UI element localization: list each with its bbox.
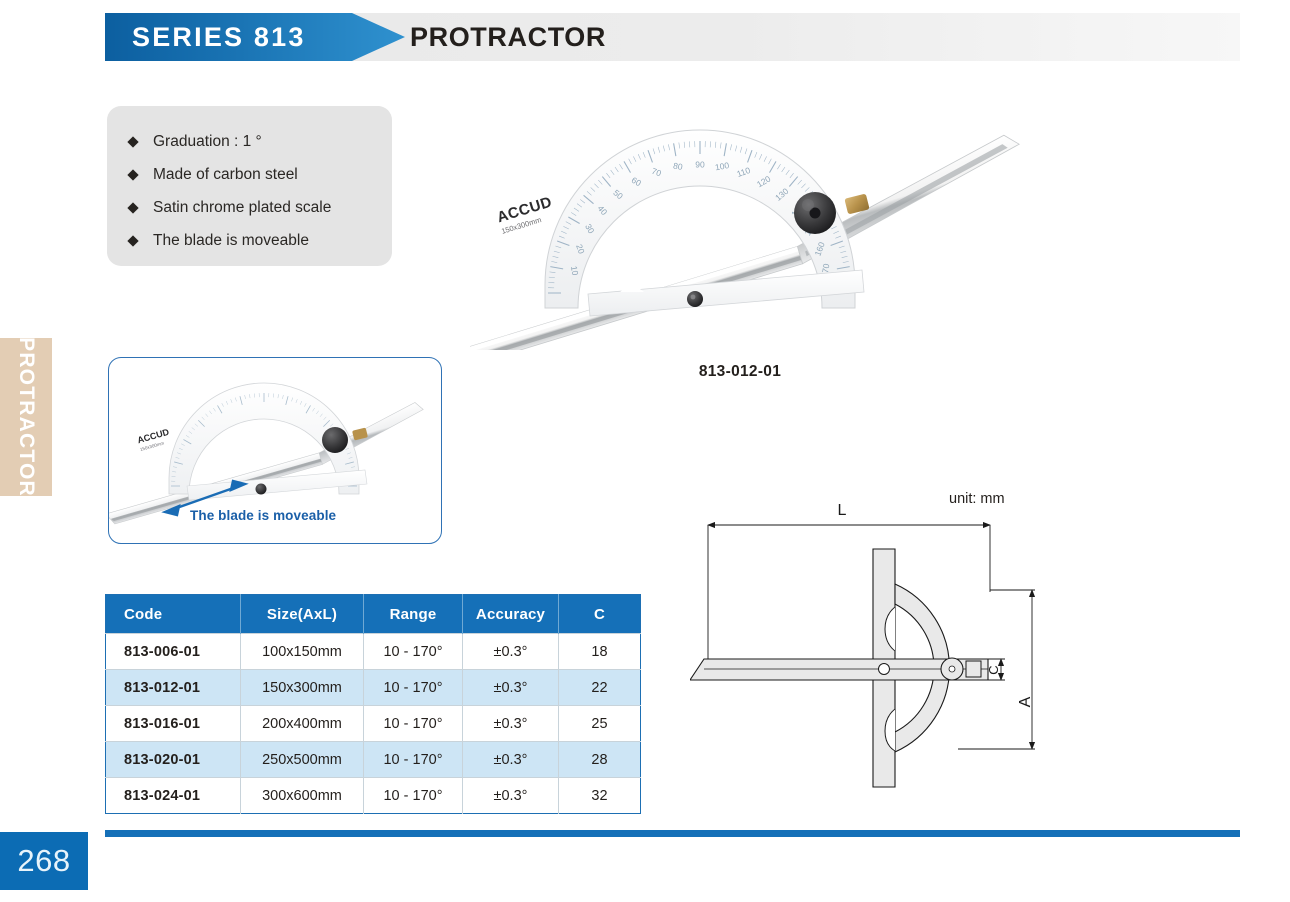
cell-range: 10 - 170° (364, 670, 463, 706)
cell-c: 18 (559, 634, 641, 670)
drawing-clamp (966, 661, 981, 677)
page-number: 268 (0, 832, 88, 890)
cell-accuracy: ±0.3° (463, 742, 559, 778)
table-header-code[interactable]: Code (106, 595, 241, 634)
cell-code: 813-016-01 (106, 706, 241, 742)
main-photo-caption: 813-012-01 (640, 363, 840, 381)
footer-rule (105, 830, 1240, 837)
inset-locking-knob (322, 427, 348, 453)
protractor-illustration: 1020304050607080901001101201301401501601… (470, 80, 1070, 350)
feature-item: Graduation : 1 ° (129, 125, 331, 158)
drawing-hole (879, 664, 890, 675)
table-header-row: Code Size(AxL) Range Accuracy C (106, 595, 641, 634)
cell-code: 813-024-01 (106, 778, 241, 814)
cell-size: 100x150mm (241, 634, 364, 670)
inset-center-pivot (256, 484, 267, 495)
dim-label-L: L (838, 502, 847, 519)
feature-text: Made of carbon steel (153, 166, 298, 183)
page-header: SERIES 813 PROTRACTOR (105, 13, 1240, 61)
side-tab-label: PROTRACTOR (14, 337, 38, 497)
scale-number: 90 (695, 159, 705, 169)
cell-range: 10 - 170° (364, 634, 463, 670)
dim-label-C: C (986, 665, 1001, 674)
feature-item: Made of carbon steel (129, 158, 331, 191)
diamond-bullet-icon (127, 169, 138, 180)
table-header-size[interactable]: Size(AxL) (241, 595, 364, 634)
cell-accuracy: ±0.3° (463, 634, 559, 670)
cell-accuracy: ±0.3° (463, 670, 559, 706)
cell-code: 813-006-01 (106, 634, 241, 670)
cell-accuracy: ±0.3° (463, 706, 559, 742)
inset-caption: The blade is moveable (190, 508, 450, 523)
table-row[interactable]: 813-024-01 300x600mm 10 - 170° ±0.3° 32 (106, 778, 641, 814)
specification-table: Code Size(AxL) Range Accuracy C 813-006-… (105, 594, 641, 814)
dimension-drawing: L A C (690, 487, 1055, 792)
diamond-bullet-icon (127, 136, 138, 147)
cell-c: 32 (559, 778, 641, 814)
cell-code: 813-012-01 (106, 670, 241, 706)
diamond-bullet-icon (127, 202, 138, 213)
table-row[interactable]: 813-020-01 250x500mm 10 - 170° ±0.3° 28 (106, 742, 641, 778)
feature-item: The blade is moveable (129, 224, 331, 257)
feature-item: Satin chrome plated scale (129, 191, 331, 224)
center-pivot (687, 291, 703, 307)
main-product-photo: 1020304050607080901001101201301401501601… (470, 80, 1070, 350)
feature-box: Graduation : 1 ° Made of carbon steel Sa… (107, 106, 392, 266)
table-row[interactable]: 813-012-01 150x300mm 10 - 170° ±0.3° 22 (106, 670, 641, 706)
scale-number: 80 (672, 160, 683, 172)
table-row[interactable]: 813-006-01 100x150mm 10 - 170° ±0.3° 18 (106, 634, 641, 670)
cell-accuracy: ±0.3° (463, 778, 559, 814)
table-row[interactable]: 813-016-01 200x400mm 10 - 170° ±0.3° 25 (106, 706, 641, 742)
table-header-c[interactable]: C (559, 595, 641, 634)
side-category-tab: PROTRACTOR (0, 338, 52, 496)
cell-range: 10 - 170° (364, 778, 463, 814)
table-header-range[interactable]: Range (364, 595, 463, 634)
brand-label: ACCUD 150x300mm (495, 193, 557, 235)
feature-list: Graduation : 1 ° Made of carbon steel Sa… (129, 125, 331, 257)
feature-text: The blade is moveable (153, 232, 309, 249)
cell-c: 22 (559, 670, 641, 706)
scale-number: 10 (569, 265, 581, 276)
cell-c: 25 (559, 706, 641, 742)
cell-size: 250x500mm (241, 742, 364, 778)
cell-range: 10 - 170° (364, 706, 463, 742)
cell-size: 200x400mm (241, 706, 364, 742)
series-label: SERIES 813 (132, 13, 306, 61)
feature-text: Graduation : 1 ° (153, 133, 262, 150)
cell-size: 150x300mm (241, 670, 364, 706)
cell-size: 300x600mm (241, 778, 364, 814)
page-number-box: 268 (0, 832, 88, 890)
cell-c: 28 (559, 742, 641, 778)
technical-drawing: L A C (690, 487, 1055, 792)
feature-text: Satin chrome plated scale (153, 199, 331, 216)
cell-range: 10 - 170° (364, 742, 463, 778)
dim-label-A: A (1017, 696, 1034, 707)
page-title: PROTRACTOR (410, 13, 606, 61)
table-header-accuracy[interactable]: Accuracy (463, 595, 559, 634)
diamond-bullet-icon (127, 235, 138, 246)
cell-code: 813-020-01 (106, 742, 241, 778)
catalog-page: SERIES 813 PROTRACTOR Graduation : 1 ° M… (0, 0, 1290, 902)
